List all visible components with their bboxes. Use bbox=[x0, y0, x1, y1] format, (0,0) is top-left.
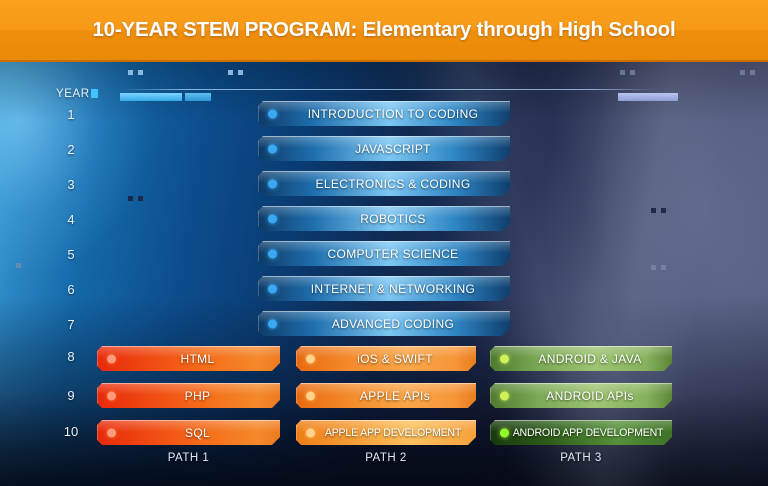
bullet-icon bbox=[268, 319, 277, 328]
bullet-icon bbox=[306, 391, 315, 400]
decor-dot-pair-8 bbox=[16, 263, 21, 268]
path1-bar-year-8[interactable]: HTML bbox=[97, 346, 280, 371]
year-number-2: 2 bbox=[54, 142, 88, 157]
course-bar-year-3[interactable]: ELECTRONICS & CODING bbox=[258, 171, 510, 196]
year-number-9: 9 bbox=[54, 388, 88, 403]
bullet-icon bbox=[268, 109, 277, 118]
path2-bar-year-9[interactable]: APPLE APIs bbox=[296, 383, 476, 408]
decor-segment-2 bbox=[185, 93, 211, 101]
path-label-2: PATH 2 bbox=[296, 452, 476, 464]
decor-dot-pair-2 bbox=[228, 70, 243, 75]
course-bar-year-1[interactable]: INTRODUCTION TO CODING bbox=[258, 101, 510, 126]
decor-dot-pair-1 bbox=[128, 70, 143, 75]
year-number-10: 10 bbox=[54, 424, 88, 439]
path-label-3: PATH 3 bbox=[490, 452, 672, 464]
course-bar-label: JAVASCRIPT bbox=[284, 142, 502, 156]
course-bar-label: ADVANCED CODING bbox=[284, 317, 502, 331]
page-title: 10-YEAR STEM PROGRAM: Elementary through… bbox=[92, 18, 675, 42]
path3-bar-label: ANDROID APP DEVELOPMENT bbox=[512, 427, 664, 439]
path3-bar-year-10[interactable]: ANDROID APP DEVELOPMENT bbox=[490, 420, 672, 445]
path2-bar-year-8[interactable]: iOS & SWIFT bbox=[296, 346, 476, 371]
course-bar-label: INTRODUCTION TO CODING bbox=[284, 107, 502, 121]
bullet-icon bbox=[268, 249, 277, 258]
infographic-canvas: 10-YEAR STEM PROGRAM: Elementary through… bbox=[0, 0, 768, 486]
decor-segment-1 bbox=[120, 93, 182, 101]
bullet-icon bbox=[268, 214, 277, 223]
course-bar-label: ELECTRONICS & CODING bbox=[284, 177, 502, 191]
year-number-4: 4 bbox=[54, 212, 88, 227]
bullet-icon bbox=[306, 354, 315, 363]
header-banner: 10-YEAR STEM PROGRAM: Elementary through… bbox=[0, 0, 768, 62]
course-bar-label: COMPUTER SCIENCE bbox=[284, 247, 502, 261]
path3-bar-year-8[interactable]: ANDROID & JAVA bbox=[490, 346, 672, 371]
year-axis-chip bbox=[91, 89, 98, 98]
decor-dot-pair-6 bbox=[651, 265, 666, 270]
path2-bar-label: iOS & SWIFT bbox=[322, 352, 468, 366]
decor-dot-pair-4 bbox=[740, 70, 755, 75]
bullet-icon bbox=[107, 391, 116, 400]
path3-bar-label: ANDROID APIs bbox=[516, 389, 664, 403]
path1-bar-label: SQL bbox=[123, 426, 272, 440]
course-bar-label: ROBOTICS bbox=[284, 212, 502, 226]
bullet-icon bbox=[268, 179, 277, 188]
path-label-1: PATH 1 bbox=[97, 452, 280, 464]
path2-bar-label: APPLE APP DEVELOPMENT bbox=[318, 427, 468, 439]
course-bar-label: INTERNET & NETWORKING bbox=[284, 282, 502, 296]
bullet-icon bbox=[500, 354, 509, 363]
decor-dot-pair-5 bbox=[651, 208, 666, 213]
decor-rule bbox=[118, 89, 658, 90]
path1-bar-year-9[interactable]: PHP bbox=[97, 383, 280, 408]
bullet-icon bbox=[107, 354, 116, 363]
course-bar-year-2[interactable]: JAVASCRIPT bbox=[258, 136, 510, 161]
path2-bar-label: APPLE APIs bbox=[322, 389, 468, 403]
decor-dot-pair-7 bbox=[128, 196, 143, 201]
path1-bar-label: PHP bbox=[123, 389, 272, 403]
bullet-icon bbox=[268, 144, 277, 153]
bullet-icon bbox=[107, 428, 116, 437]
decor-segment-3 bbox=[618, 93, 678, 101]
year-axis-label: YEAR bbox=[56, 88, 90, 100]
year-number-7: 7 bbox=[54, 317, 88, 332]
year-number-5: 5 bbox=[54, 247, 88, 262]
bullet-icon bbox=[268, 284, 277, 293]
path2-bar-year-10[interactable]: APPLE APP DEVELOPMENT bbox=[296, 420, 476, 445]
year-number-1: 1 bbox=[54, 107, 88, 122]
bullet-icon bbox=[500, 428, 509, 437]
bullet-icon bbox=[500, 391, 509, 400]
decor-dot-pair-3 bbox=[620, 70, 635, 75]
path3-bar-year-9[interactable]: ANDROID APIs bbox=[490, 383, 672, 408]
path3-bar-label: ANDROID & JAVA bbox=[516, 352, 664, 366]
year-number-8: 8 bbox=[54, 349, 88, 364]
path1-bar-label: HTML bbox=[123, 352, 272, 366]
course-bar-year-4[interactable]: ROBOTICS bbox=[258, 206, 510, 231]
path1-bar-year-10[interactable]: SQL bbox=[97, 420, 280, 445]
bullet-icon bbox=[306, 428, 315, 437]
year-number-3: 3 bbox=[54, 177, 88, 192]
year-number-6: 6 bbox=[54, 282, 88, 297]
course-bar-year-7[interactable]: ADVANCED CODING bbox=[258, 311, 510, 336]
course-bar-year-5[interactable]: COMPUTER SCIENCE bbox=[258, 241, 510, 266]
course-bar-year-6[interactable]: INTERNET & NETWORKING bbox=[258, 276, 510, 301]
